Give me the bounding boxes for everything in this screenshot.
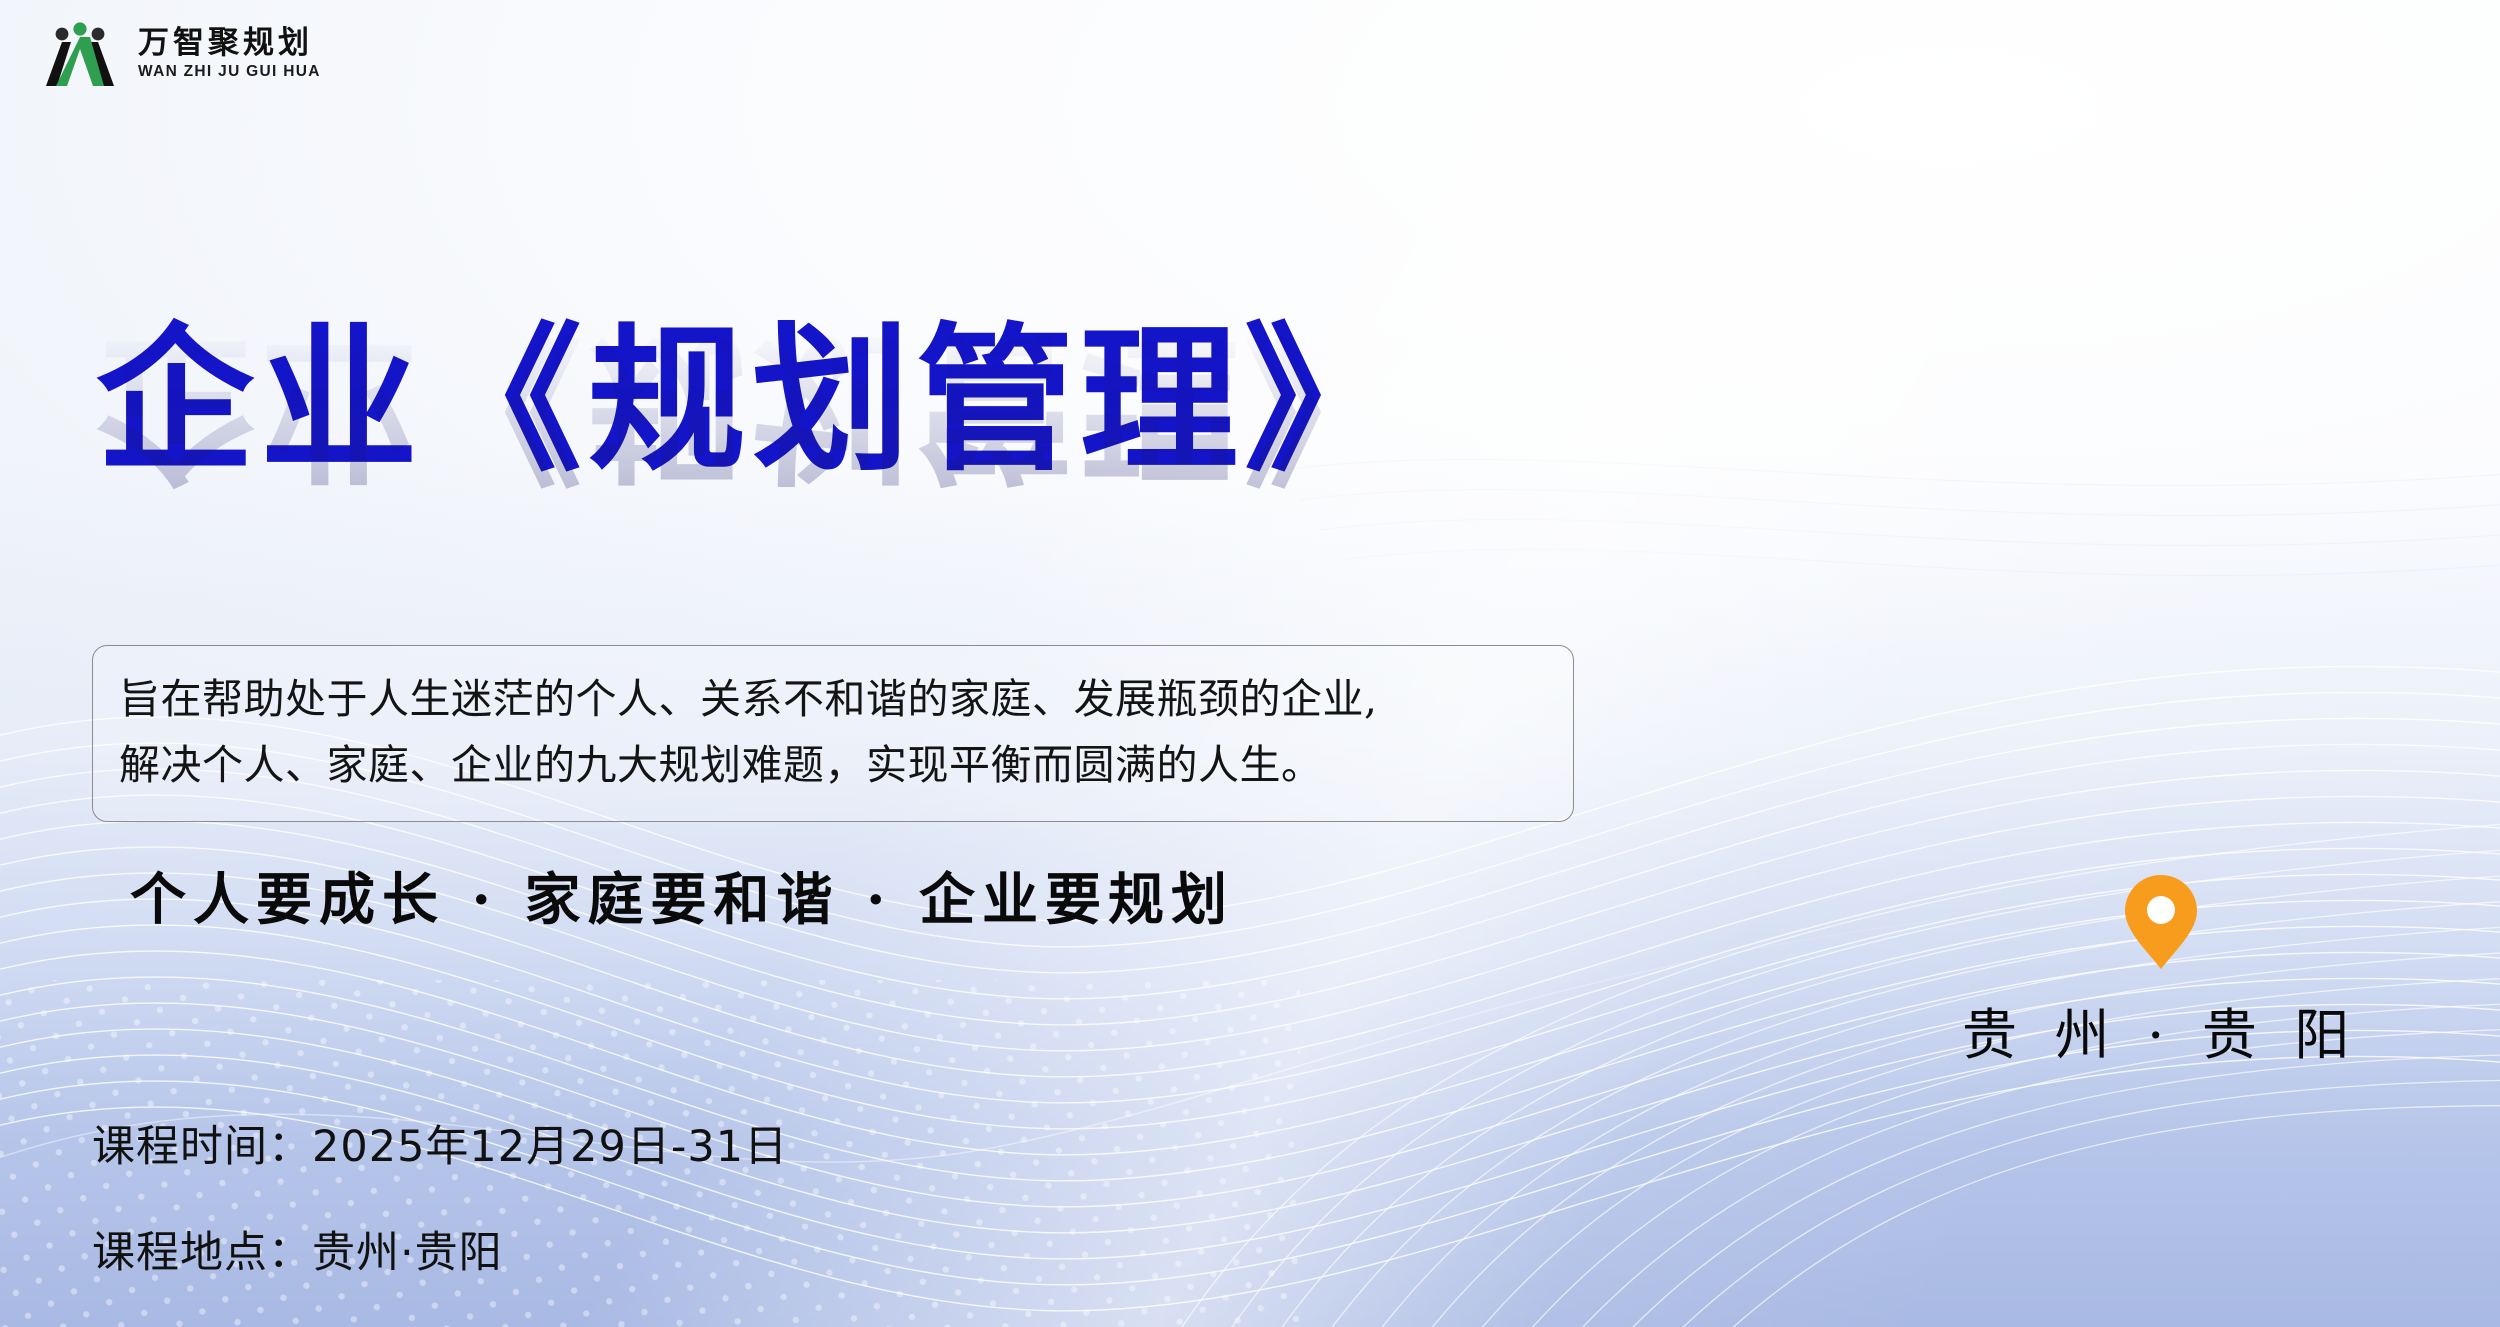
hero-title-block: 企业《规划管理》 企业《规划管理》 [96, 316, 1408, 661]
description-line-1: 旨在帮助处于人生迷茫的个人、关系不和谐的家庭、发展瓶颈的企业, [119, 666, 1547, 732]
location-badge: 贵 州 · 贵 阳 [1962, 872, 2359, 1070]
promotional-poster: 万智聚规划 WAN ZHI JU GUI HUA 企业《规划管理》 企业《规划管… [0, 0, 2500, 1327]
course-place: 课程地点：贵州·贵阳 [92, 1218, 788, 1280]
brand-name-cn: 万智聚规划 [138, 27, 321, 60]
brand-name-en: WAN ZHI JU GUI HUA [138, 63, 321, 81]
brand-logo: 万智聚规划 WAN ZHI JU GUI HUA [38, 18, 321, 90]
description-box: 旨在帮助处于人生迷茫的个人、关系不和谐的家庭、发展瓶颈的企业, 解决个人、家庭、… [92, 645, 1574, 822]
tagline: 个人要成长 · 家庭要和谐 · 企业要规划 [130, 855, 1234, 936]
course-time: 课程时间：2025年12月29日-31日 [92, 1112, 788, 1174]
map-pin-icon [2120, 872, 2202, 972]
page-title-reflection: 企业《规划管理》 [96, 320, 1408, 491]
three-people-group-icon [38, 18, 122, 90]
description-line-2: 解决个人、家庭、企业的九大规划难题，实现平衡而圆满的人生。 [119, 732, 1547, 798]
brand-text: 万智聚规划 WAN ZHI JU GUI HUA [138, 27, 321, 81]
location-label: 贵 州 · 贵 阳 [1962, 990, 2359, 1070]
course-info: 课程时间：2025年12月29日-31日 课程地点：贵州·贵阳 [92, 1112, 788, 1280]
